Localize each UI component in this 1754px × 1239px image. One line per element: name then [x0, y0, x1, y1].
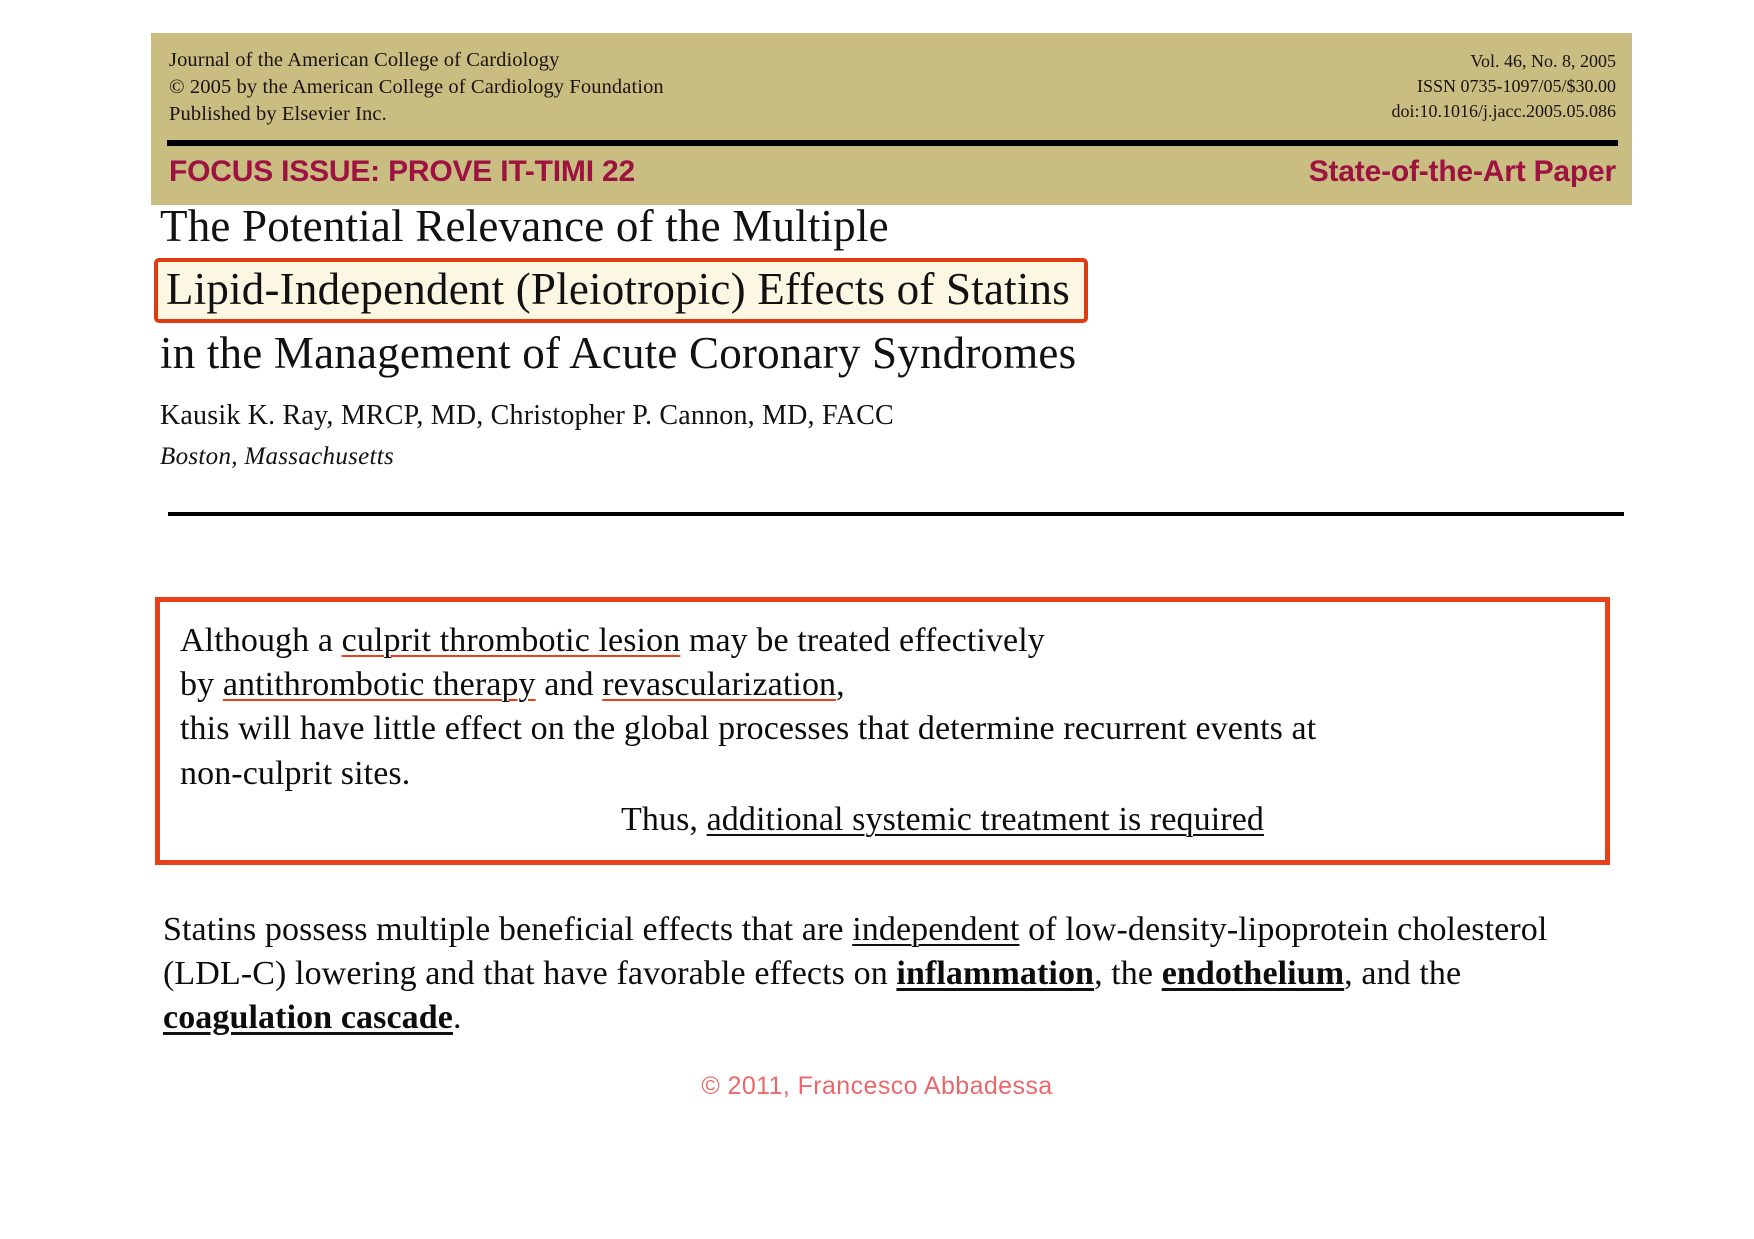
title-bottom-rule: [168, 512, 1624, 516]
journal-masthead-band: Journal of the American College of Cardi…: [151, 33, 1632, 205]
quote-line-2-part-c: and: [536, 666, 603, 703]
masthead-publisher-info: Journal of the American College of Cardi…: [169, 47, 664, 128]
closing-paragraph: Statins possess multiple beneficial effe…: [163, 908, 1583, 1041]
quote-line-1-part-c: may be treated effectively: [680, 622, 1045, 659]
focus-issue-label: FOCUS ISSUE: PROVE IT-TIMI 22: [169, 155, 635, 189]
journal-issn: ISSN 0735-1097/05/$30.00: [1392, 74, 1616, 99]
journal-copyright: © 2005 by the American College of Cardio…: [169, 74, 664, 101]
quote-line-5: Thus, additional systemic treatment is r…: [180, 798, 1585, 842]
article-affiliation: Boston, Massachusetts: [160, 443, 1620, 471]
quote-line-2: by antithrombotic therapy and revascular…: [180, 663, 1585, 707]
masthead-focus-row: FOCUS ISSUE: PROVE IT-TIMI 22 State-of-t…: [151, 146, 1632, 205]
closing-part-3: , the: [1094, 955, 1162, 992]
quote-line-4: non-culprit sites.: [180, 752, 1585, 796]
highlighted-quote-box: Although a culprit thrombotic lesion may…: [155, 597, 1610, 865]
closing-term-endothelium: endothelium: [1162, 955, 1344, 992]
article-title-block: The Potential Relevance of the Multiple …: [160, 200, 1620, 471]
quote-line-3: this will have little effect on the glob…: [180, 707, 1585, 751]
article-title-line-3: in the Management of Acute Coronary Synd…: [160, 327, 1620, 380]
quote-emphasis-antithrombotic-therapy: antithrombotic therapy: [223, 666, 536, 703]
closing-term-inflammation: inflammation: [896, 955, 1094, 992]
closing-emphasis-independent: independent: [852, 911, 1019, 948]
journal-name: Journal of the American College of Cardi…: [169, 47, 664, 74]
article-type-label: State-of-the-Art Paper: [1309, 155, 1616, 189]
closing-part-5: .: [453, 999, 462, 1036]
closing-part-1: Statins possess multiple beneficial effe…: [163, 911, 852, 948]
journal-volume: Vol. 46, No. 8, 2005: [1392, 49, 1616, 74]
masthead-top-row: Journal of the American College of Cardi…: [151, 33, 1632, 138]
quote-line-5-part-a: Thus,: [621, 801, 707, 838]
quote-emphasis-revascularization: revascularization: [602, 666, 836, 703]
closing-part-4: , and the: [1344, 955, 1461, 992]
footer-credit: © 2011, Francesco Abbadessa: [0, 1072, 1754, 1101]
quote-line-2-part-a: by: [180, 666, 223, 703]
quote-line-1: Although a culprit thrombotic lesion may…: [180, 619, 1585, 663]
closing-term-coagulation-cascade: coagulation cascade: [163, 999, 453, 1036]
journal-doi: doi:10.1016/j.jacc.2005.05.086: [1392, 99, 1616, 124]
masthead-issue-info: Vol. 46, No. 8, 2005 ISSN 0735-1097/05/$…: [1392, 47, 1616, 125]
article-title-line-2-highlighted: Lipid-Independent (Pleiotropic) Effects …: [154, 258, 1088, 323]
quote-line-2-part-e: ,: [836, 666, 845, 703]
article-authors: Kausik K. Ray, MRCP, MD, Christopher P. …: [160, 400, 1620, 432]
quote-line-1-part-a: Although a: [180, 622, 342, 659]
quote-emphasis-additional-treatment: additional systemic treatment is require…: [707, 801, 1264, 838]
article-title-line-1: The Potential Relevance of the Multiple: [160, 200, 1620, 253]
quote-emphasis-culprit-lesion: culprit thrombotic lesion: [342, 622, 681, 659]
journal-publisher: Published by Elsevier Inc.: [169, 101, 664, 128]
